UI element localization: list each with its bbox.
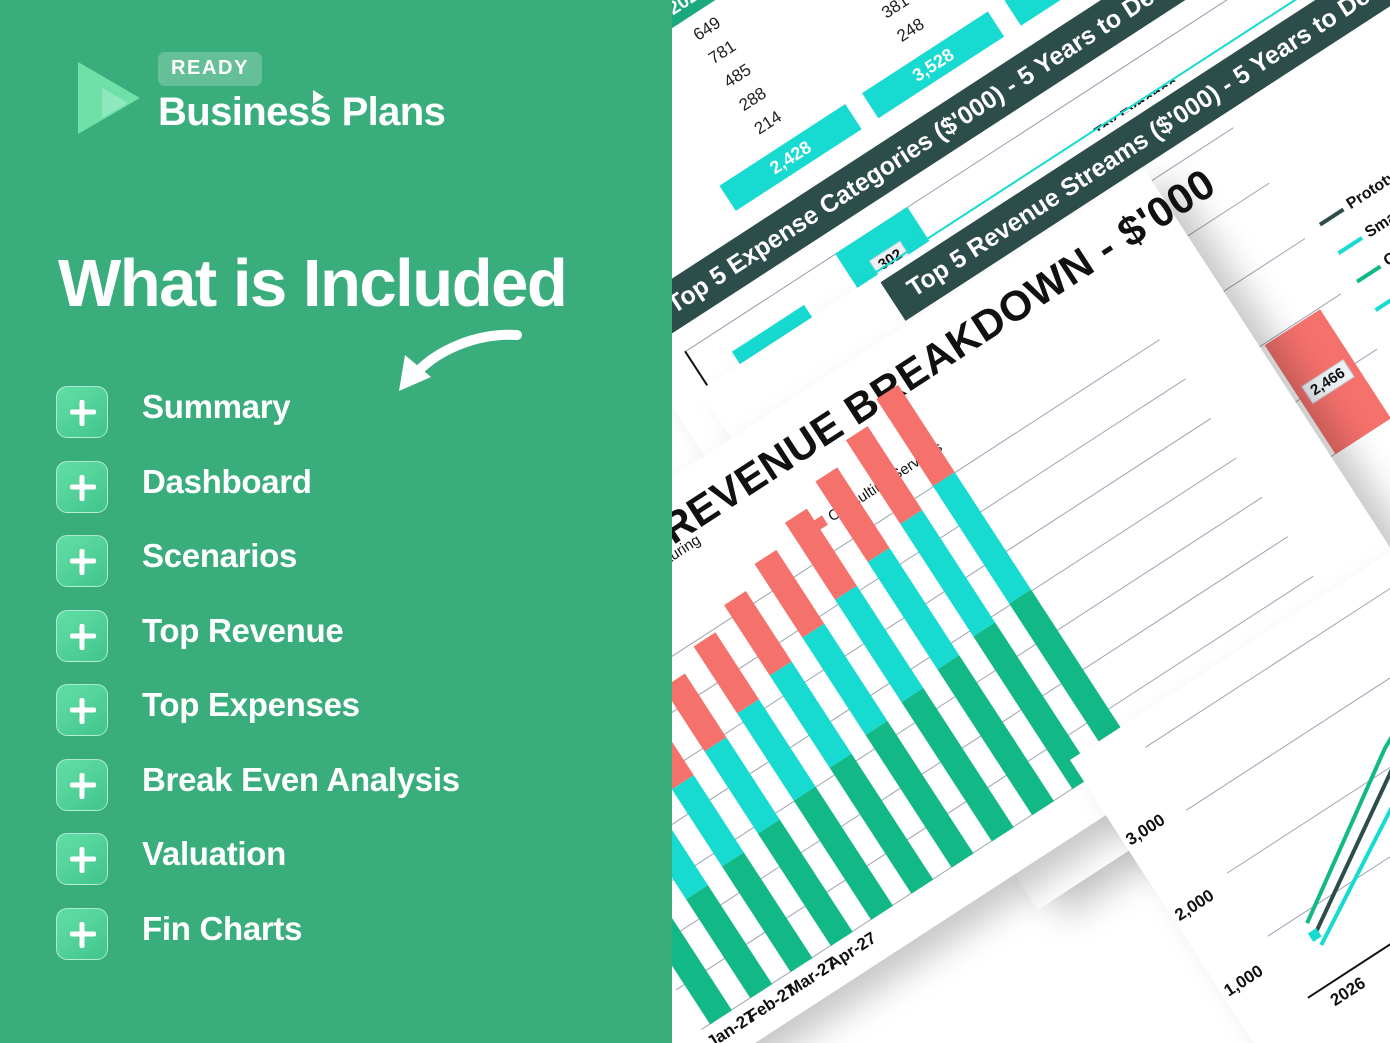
plus-icon[interactable] [56, 833, 108, 885]
curved-arrow-down-left-icon [385, 325, 525, 395]
list-item-break-even-analysis[interactable]: Break Even Analysis [56, 759, 656, 834]
list-item-label: Top Expenses [142, 686, 360, 724]
ready-badge-label: READY [171, 57, 249, 79]
plus-icon[interactable] [56, 535, 108, 587]
y-tick: 3,000 [1122, 810, 1169, 850]
legend-label: Prototype Services [1344, 120, 1390, 213]
list-item-label: Fin Charts [142, 910, 302, 948]
plus-icon[interactable] [56, 684, 108, 736]
list-item-label: Valuation [142, 835, 286, 873]
list-item-fin-charts[interactable]: Fin Charts [56, 908, 656, 983]
list-item-label: Top Revenue [142, 612, 343, 650]
left-green-panel: READY Business Plans What is Included Su… [0, 0, 672, 1043]
plus-icon[interactable] [56, 386, 108, 438]
plus-icon[interactable] [56, 610, 108, 662]
list-item-label: Break Even Analysis [142, 761, 460, 799]
plus-icon[interactable] [56, 759, 108, 811]
plus-icon[interactable] [56, 461, 108, 513]
bar-value-label: 2,466 [1301, 359, 1354, 404]
brand-name: Business Plans [158, 90, 445, 135]
list-item-scenarios[interactable]: Scenarios [56, 535, 656, 610]
list-item-valuation[interactable]: Valuation [56, 833, 656, 908]
list-item-summary[interactable]: Summary [56, 386, 656, 461]
brand-play-accent-icon [313, 90, 324, 104]
y-tick: 1,000 [1220, 961, 1267, 1001]
list-item-top-revenue[interactable]: Top Revenue [56, 610, 656, 685]
list-item-dashboard[interactable]: Dashboard [56, 461, 656, 536]
plus-icon[interactable] [56, 908, 108, 960]
brand-logo[interactable]: READY Business Plans [60, 52, 580, 152]
play-triangle-icon [72, 56, 146, 140]
page-title: What is Included [58, 245, 566, 322]
list-item-top-expenses[interactable]: Top Expenses [56, 684, 656, 759]
document-collage: Company Name Table of Contents 128.9 202… [640, 0, 1390, 1043]
y-tick: 2,000 [1171, 886, 1218, 926]
poster-canvas: Company Name Table of Contents 128.9 202… [0, 0, 1390, 1043]
included-items-list: Summary Dashboard Scenarios Top Revenue … [56, 386, 656, 982]
list-item-label: Dashboard [142, 463, 312, 501]
ready-badge: READY [158, 52, 262, 86]
list-item-label: Summary [142, 388, 290, 426]
list-item-label: Scenarios [142, 537, 297, 575]
